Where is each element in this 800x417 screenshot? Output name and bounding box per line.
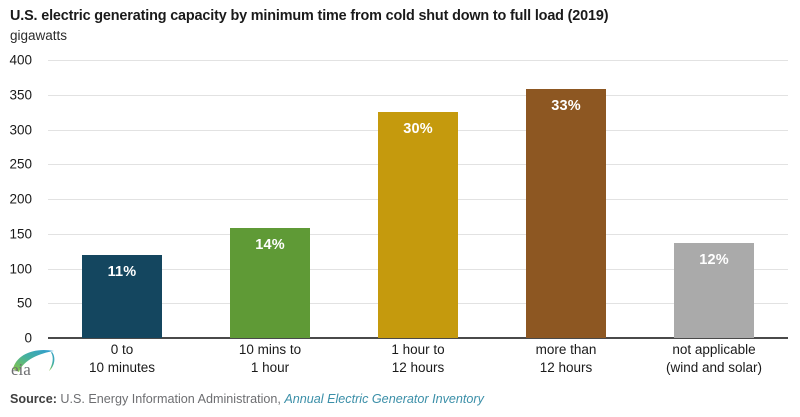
- y-axis-tick-label: 400: [0, 53, 32, 68]
- chart-page: U.S. electric generating capacity by min…: [0, 0, 800, 417]
- x-axis-category-line: not applicable: [640, 341, 788, 359]
- source-line: Source: U.S. Energy Information Administ…: [10, 392, 484, 406]
- y-axis-tick-label: 100: [0, 261, 32, 276]
- x-axis-category-label: more than12 hours: [492, 341, 640, 377]
- x-axis-category-label: 10 mins to1 hour: [196, 341, 344, 377]
- bar-series: 11%14%30%33%12%: [48, 60, 788, 338]
- y-axis-tick-label: 200: [0, 192, 32, 207]
- x-axis-category-line: more than: [492, 341, 640, 359]
- plot-area: 050100150200250300350400 11%14%30%33%12%: [48, 60, 788, 338]
- bar-column[interactable]: 30%: [378, 112, 458, 338]
- bar[interactable]: 14%: [230, 228, 310, 338]
- bar-column[interactable]: 14%: [230, 228, 310, 338]
- bar-column[interactable]: 12%: [674, 243, 754, 338]
- bar[interactable]: 33%: [526, 89, 606, 338]
- source-label: Source:: [10, 392, 57, 406]
- x-axis-category-line: 10 mins to: [196, 341, 344, 359]
- x-axis-category-line: 12 hours: [344, 359, 492, 377]
- bar-value-label: 14%: [230, 237, 310, 253]
- svg-text:eia: eia: [11, 360, 31, 379]
- x-axis-category-line: 10 minutes: [48, 359, 196, 377]
- x-axis-category-line: 1 hour to: [344, 341, 492, 359]
- x-axis-category-label: 1 hour to12 hours: [344, 341, 492, 377]
- chart-subtitle: gigawatts: [10, 28, 67, 43]
- page-title: U.S. electric generating capacity by min…: [10, 8, 608, 24]
- bar-column[interactable]: 33%: [526, 89, 606, 338]
- bar-value-label: 33%: [526, 98, 606, 114]
- y-axis-tick-label: 0: [0, 331, 32, 346]
- bar[interactable]: 12%: [674, 243, 754, 338]
- source-publication-link[interactable]: Annual Electric Generator Inventory: [284, 392, 484, 406]
- x-axis-labels: 0 to10 minutes10 mins to1 hour1 hour to1…: [48, 341, 788, 385]
- x-axis-category-label: 0 to10 minutes: [48, 341, 196, 377]
- eia-logo: eia: [8, 346, 60, 380]
- source-agency: U.S. Energy Information Administration,: [60, 392, 281, 406]
- y-axis-tick-label: 250: [0, 157, 32, 172]
- bar-value-label: 12%: [674, 252, 754, 268]
- bar[interactable]: 30%: [378, 112, 458, 338]
- y-axis-tick-label: 350: [0, 87, 32, 102]
- x-axis-category-line: 0 to: [48, 341, 196, 359]
- bar[interactable]: 11%: [82, 255, 162, 338]
- x-axis-category-line: 1 hour: [196, 359, 344, 377]
- bar-value-label: 11%: [82, 264, 162, 280]
- bar-value-label: 30%: [378, 121, 458, 137]
- y-axis-tick-label: 50: [0, 296, 32, 311]
- x-axis-category-line: 12 hours: [492, 359, 640, 377]
- y-axis-tick-label: 150: [0, 226, 32, 241]
- x-axis-category-line: (wind and solar): [640, 359, 788, 377]
- x-axis-category-label: not applicable(wind and solar): [640, 341, 788, 377]
- bar-column[interactable]: 11%: [82, 255, 162, 338]
- y-axis-tick-label: 300: [0, 122, 32, 137]
